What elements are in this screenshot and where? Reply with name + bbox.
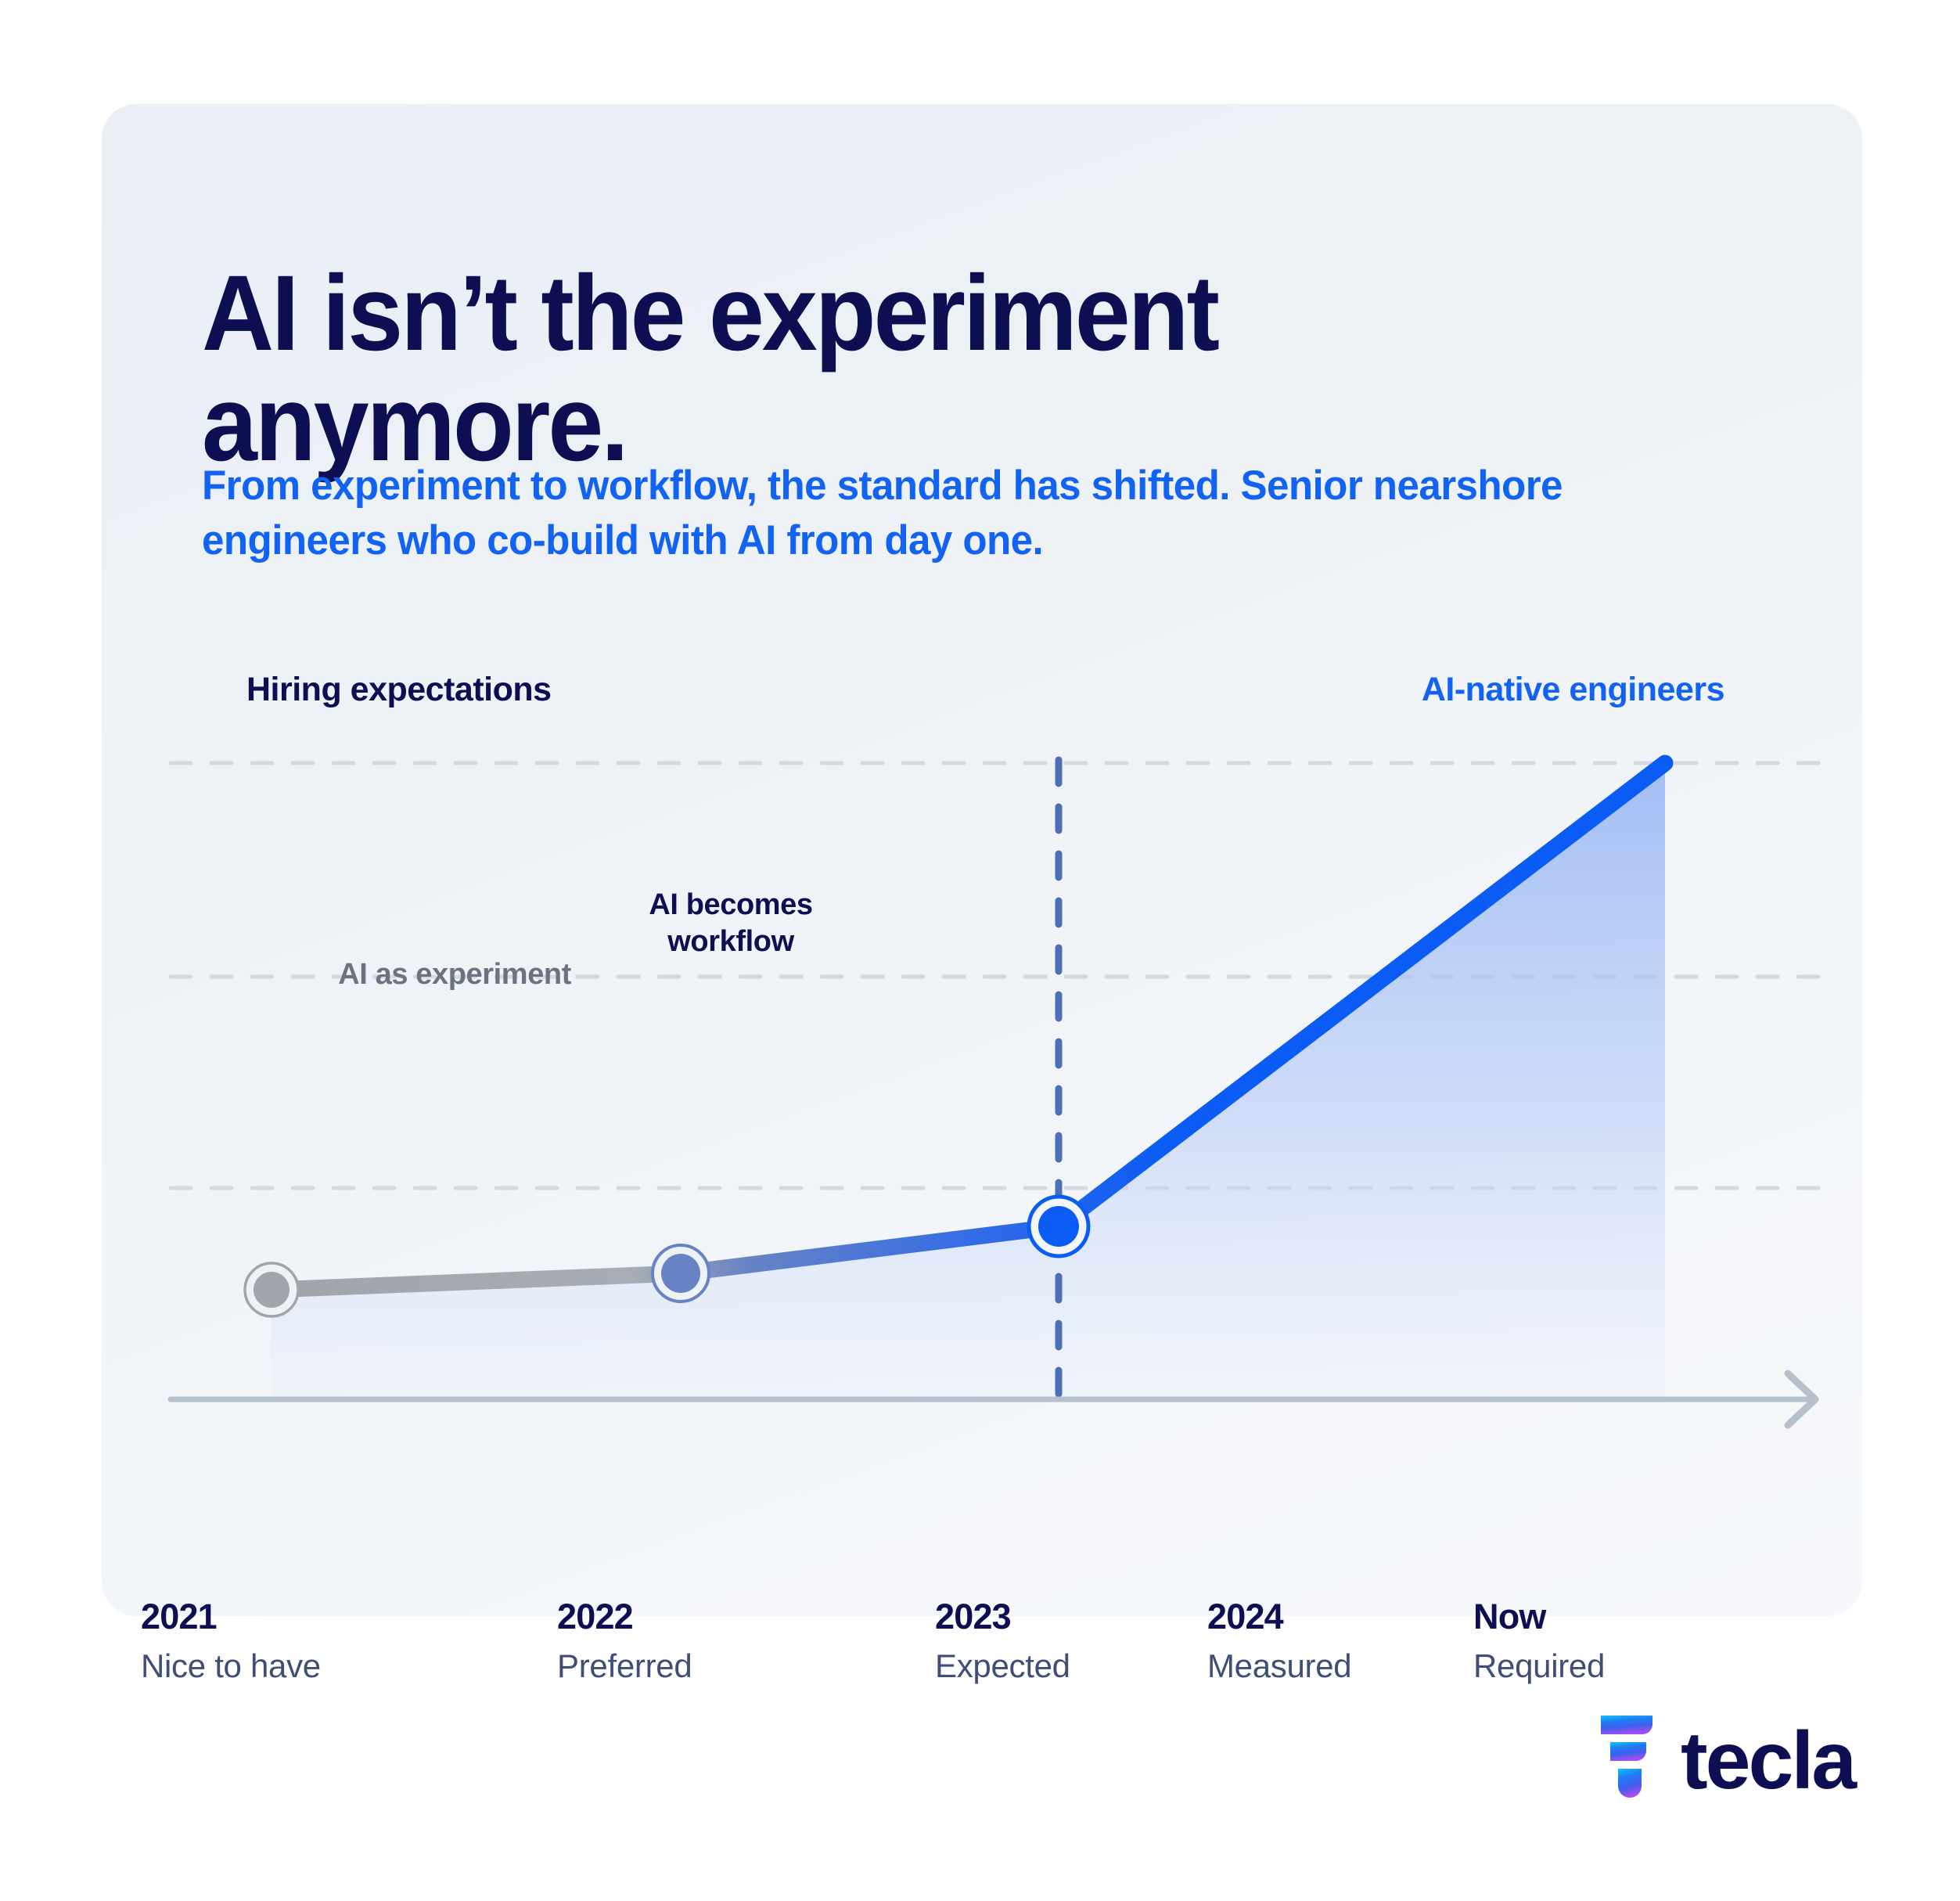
- x-tick-year: 2024: [1207, 1599, 1489, 1634]
- infographic-card: AI isn’t the experiment anymore. From ex…: [102, 104, 1862, 1616]
- x-tick-2021: 2021 Nice to have: [141, 1599, 423, 1683]
- x-tick-year: 2022: [557, 1599, 839, 1634]
- x-tick-label: Preferred: [557, 1650, 839, 1683]
- x-tick-year: 2023: [935, 1599, 1217, 1634]
- x-tick-label: Nice to have: [141, 1650, 423, 1683]
- tecla-logo-icon: [1601, 1714, 1663, 1805]
- marker-2021[interactable]: [245, 1263, 298, 1316]
- marker-2023[interactable]: [1029, 1197, 1088, 1256]
- marker-2022[interactable]: [653, 1245, 709, 1302]
- x-tick-2022: 2022 Preferred: [557, 1599, 839, 1683]
- annotation-ai-as-experiment: AI as experiment: [102, 958, 571, 992]
- hiring-expectations-chart: Hiring expectations AI-native engineers: [102, 104, 1862, 1616]
- x-tick-label: Expected: [935, 1650, 1217, 1683]
- x-tick-label: Measured: [1207, 1650, 1489, 1683]
- area-fill: [272, 763, 1665, 1399]
- tecla-logo[interactable]: tecla: [1601, 1714, 1883, 1816]
- x-tick-2023: 2023 Expected: [935, 1599, 1217, 1683]
- x-tick-year: 2021: [141, 1599, 423, 1634]
- x-tick-now: Now Required: [1473, 1599, 1755, 1683]
- tecla-wordmark: tecla: [1681, 1719, 1854, 1804]
- x-tick-2024: 2024 Measured: [1207, 1599, 1489, 1683]
- chart-plot-area: [102, 104, 1862, 1616]
- annotation-line-2: workflow: [667, 925, 793, 958]
- x-tick-label: Required: [1473, 1650, 1755, 1683]
- x-tick-year: Now: [1473, 1599, 1755, 1634]
- annotation-ai-becomes-workflow: AI becomes workflow: [566, 887, 895, 960]
- annotation-line-1: AI becomes: [649, 888, 812, 921]
